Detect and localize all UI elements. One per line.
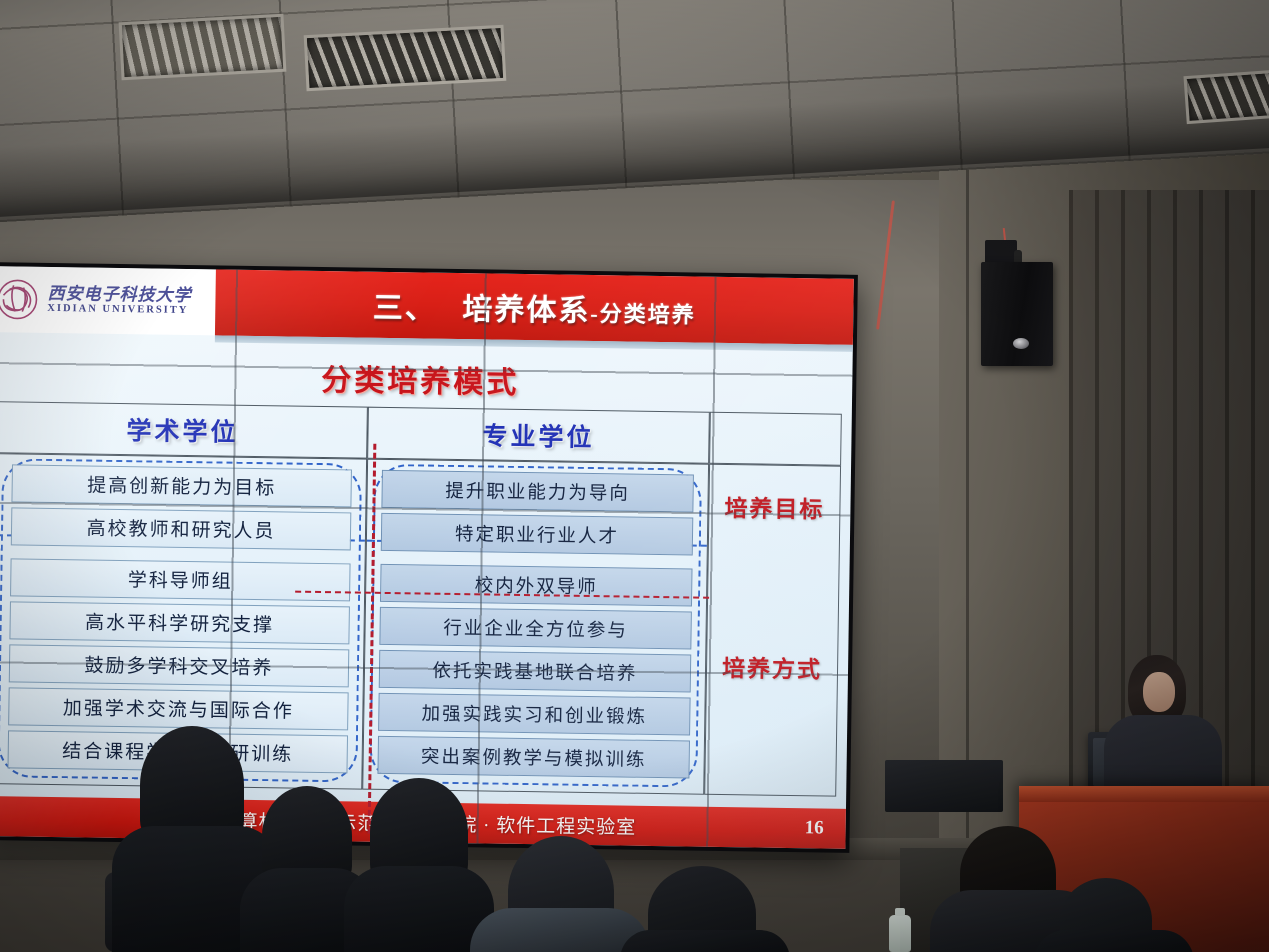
logo-chinese-name: 西安电子科技大学 (47, 285, 191, 305)
title-number: 三、 (373, 292, 437, 326)
row-label-method: 培养方式 (707, 655, 837, 684)
list-item: 特定职业行业人才 (381, 513, 694, 556)
xidian-seal-icon (0, 275, 42, 324)
wall-corner-edge (966, 150, 969, 952)
row-label-goal: 培养目标 (709, 495, 839, 524)
speaker-driver-icon (1013, 338, 1029, 349)
list-item: 突出案例教学与模拟训练 (377, 736, 690, 779)
presenter-face (1143, 672, 1175, 712)
university-logo-block: 西安电子科技大学 XIDIAN UNIVERSITY (0, 266, 216, 335)
page-number: 16 (805, 817, 824, 839)
professional-degree-column: 提升职业能力为导向 特定职业行业人才 校内外双导师 行业企业全方位参与 依托实践… (362, 459, 709, 795)
audience-body (620, 930, 790, 952)
column-header-professional: 专业学位 (367, 407, 710, 464)
slide-subtitle: 分类培养模式 (0, 350, 853, 407)
list-item: 行业企业全方位参与 (379, 607, 692, 650)
list-item: 加强实践实习和创业锻炼 (378, 693, 691, 736)
slide-header: 西安电子科技大学 XIDIAN UNIVERSITY 三、 培养体系-分类培养 (0, 266, 854, 345)
wall-speaker (981, 262, 1053, 366)
row-label-goal-text: 培养目标 (724, 496, 824, 522)
hvac-vent-icon (119, 14, 287, 81)
list-item: 学科导师组 (10, 558, 351, 601)
list-item: 提高创新能力为目标 (11, 464, 352, 507)
column-header-spacer (709, 412, 842, 466)
video-wall-display[interactable]: 西安电子科技大学 XIDIAN UNIVERSITY 三、 培养体系-分类培养 … (0, 262, 858, 853)
list-item: 校内外双导师 (380, 564, 693, 607)
audience-body (1034, 930, 1194, 952)
presentation-slide: 西安电子科技大学 XIDIAN UNIVERSITY 三、 培养体系-分类培养 … (0, 266, 854, 849)
logo-english-name: XIDIAN UNIVERSITY (47, 303, 191, 317)
row-label-column: 培养目标 培养方式 (704, 464, 841, 797)
row-label-method-text: 培养方式 (722, 656, 822, 682)
podium-top-surface (1019, 786, 1269, 802)
academic-goal-boxes: 提高创新能力为目标 高校教师和研究人员 (11, 464, 352, 550)
title-main: 培养体系 (462, 293, 590, 328)
list-item: 提升职业能力为导向 (381, 470, 694, 513)
professional-goal-boxes: 提升职业能力为导向 特定职业行业人才 (381, 470, 694, 556)
professional-method-boxes: 校内外双导师 行业企业全方位参与 依托实践基地联合培养 加强实践实习和创业锻炼 … (377, 564, 692, 779)
list-item: 高水平科学研究支撑 (9, 601, 350, 644)
list-item: 鼓励多学科交叉培养 (9, 644, 350, 687)
lecture-hall-photo: 西安电子科技大学 XIDIAN UNIVERSITY 三、 培养体系-分类培养 … (0, 0, 1269, 952)
water-bottle (889, 915, 911, 952)
column-header-academic: 学术学位 (0, 401, 368, 458)
list-item: 依托实践基地联合培养 (379, 650, 692, 693)
hvac-vent-icon (1183, 68, 1269, 124)
slide-title-bar: 三、 培养体系-分类培养 (215, 269, 854, 344)
list-item: 高校教师和研究人员 (11, 507, 352, 550)
list-item: 加强学术交流与国际合作 (8, 687, 349, 730)
title-suffix: -分类培养 (590, 301, 696, 328)
hvac-vent-icon (304, 25, 507, 91)
back-monitor (885, 760, 1003, 812)
comparison-table: 学术学位 专业学位 提高创新能力为目标 高校教师和研究人员 学科导师组 高水平科… (0, 401, 842, 796)
speaker-bracket (985, 240, 1017, 264)
